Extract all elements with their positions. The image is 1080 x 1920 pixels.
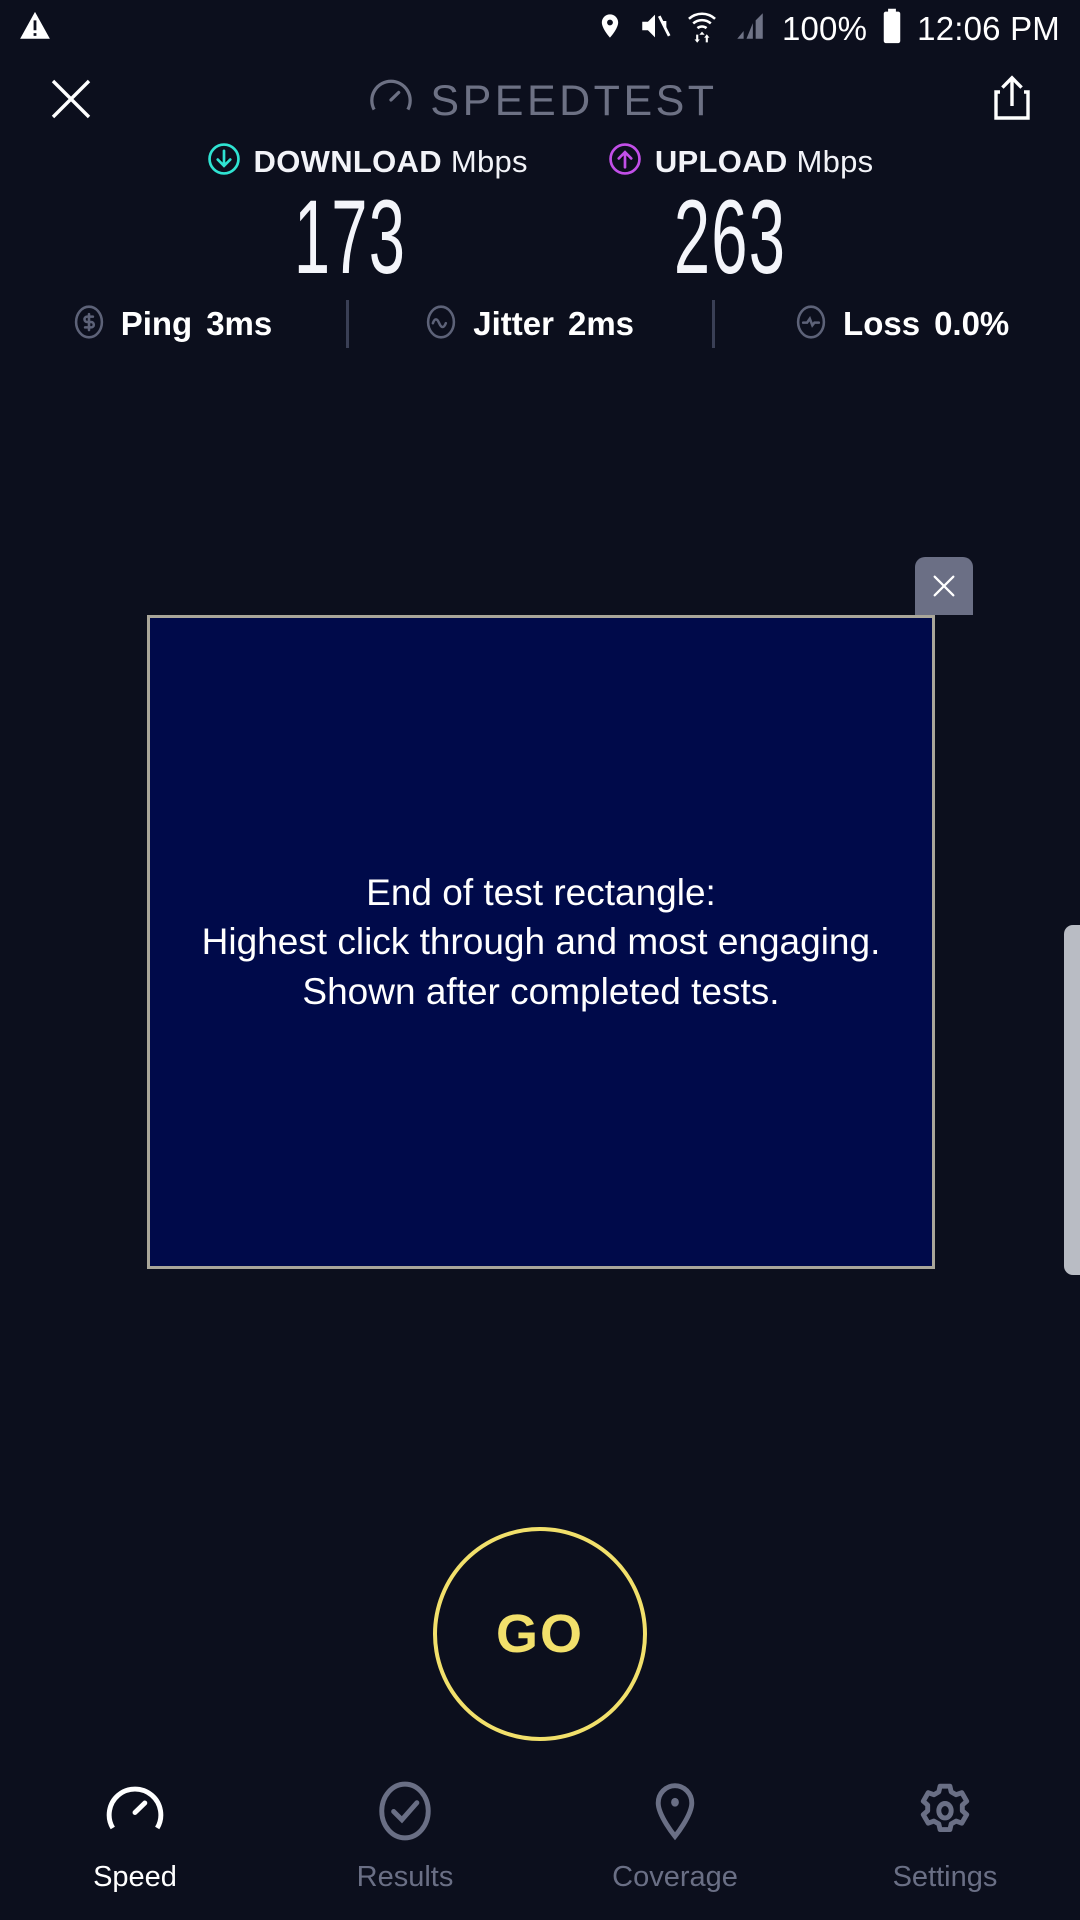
loss-metric: Loss 0.0% <box>793 304 1009 345</box>
go-button[interactable]: GO <box>433 1527 647 1741</box>
divider-2 <box>712 300 715 348</box>
ad-line-3: Shown after completed tests. <box>202 967 881 1016</box>
share-button[interactable] <box>988 72 1036 131</box>
location-pin-icon <box>596 9 624 48</box>
nav-item-coverage[interactable]: Coverage <box>540 1780 810 1894</box>
ping-label: Ping <box>121 305 193 343</box>
loss-icon <box>793 304 829 345</box>
wifi-icon <box>686 8 718 49</box>
advertisement[interactable]: End of test rectangle: Highest click thr… <box>147 615 935 1269</box>
speedometer-icon <box>368 76 414 127</box>
upload-value: 263 <box>612 183 848 293</box>
ad-line-1: End of test rectangle: <box>202 868 881 917</box>
nav-label-coverage: Coverage <box>612 1861 738 1894</box>
check-circle-icon <box>374 1780 436 1847</box>
bottom-navigation: Speed Results Coverage Settings <box>0 1770 1080 1920</box>
map-pin-icon <box>644 1780 706 1847</box>
page-scrollbar[interactable] <box>1064 925 1080 1275</box>
warning-triangle-icon <box>18 9 52 48</box>
mute-icon <box>638 9 672 48</box>
cellular-signal-icon <box>732 9 768 48</box>
download-label: DOWNLOAD Mbps <box>254 144 528 180</box>
speedometer-icon <box>104 1780 166 1847</box>
nav-label-speed: Speed <box>93 1861 177 1894</box>
go-button-label: GO <box>496 1603 584 1665</box>
status-bar-right: 100% 12:06 PM <box>596 8 1060 49</box>
divider-1 <box>346 300 349 348</box>
ad-creative[interactable]: End of test rectangle: Highest click thr… <box>147 615 935 1269</box>
status-bar: 100% 12:06 PM <box>0 0 1080 56</box>
download-label-group: DOWNLOAD Mbps <box>207 142 528 181</box>
battery-percent-label: 100% <box>782 12 867 45</box>
jitter-label: Jitter <box>473 305 554 343</box>
status-bar-left <box>18 9 52 48</box>
download-value: 173 <box>232 183 468 293</box>
clock-label: 12:06 PM <box>917 12 1060 45</box>
ping-jitter-loss-row: Ping 3ms Jitter 2ms Loss 0.0% <box>0 300 1080 348</box>
jitter-metric: Jitter 2ms <box>423 304 634 345</box>
jitter-icon <box>423 304 459 345</box>
arrow-up-circle-icon <box>608 142 642 181</box>
ad-text: End of test rectangle: Highest click thr… <box>196 868 887 1016</box>
ping-value: 3ms <box>206 305 272 343</box>
results-summary: DOWNLOAD Mbps UPLOAD Mbps 173 263 <box>0 142 1080 293</box>
ping-metric: Ping 3ms <box>71 304 273 345</box>
nav-item-results[interactable]: Results <box>270 1780 540 1894</box>
metric-values-row: 173 263 <box>0 183 1080 293</box>
nav-item-speed[interactable]: Speed <box>0 1780 270 1894</box>
ad-line-2: Highest click through and most engaging. <box>202 917 881 966</box>
gear-icon <box>914 1780 976 1847</box>
close-button[interactable] <box>44 72 98 131</box>
loss-value: 0.0% <box>934 305 1009 343</box>
battery-full-icon <box>881 8 903 49</box>
jitter-value: 2ms <box>568 305 634 343</box>
app-title: SPEEDTEST <box>430 77 717 126</box>
upload-label: UPLOAD Mbps <box>655 144 874 180</box>
nav-item-settings[interactable]: Settings <box>810 1780 1080 1894</box>
brand: SPEEDTEST <box>368 76 717 127</box>
arrow-down-circle-icon <box>207 142 241 181</box>
nav-label-settings: Settings <box>893 1861 998 1894</box>
app-header: SPEEDTEST <box>0 56 1080 146</box>
loss-label: Loss <box>843 305 920 343</box>
upload-label-group: UPLOAD Mbps <box>608 142 874 181</box>
ad-close-button[interactable] <box>915 557 973 615</box>
metric-labels-row: DOWNLOAD Mbps UPLOAD Mbps <box>0 142 1080 181</box>
nav-label-results: Results <box>357 1861 454 1894</box>
ping-icon <box>71 304 107 345</box>
